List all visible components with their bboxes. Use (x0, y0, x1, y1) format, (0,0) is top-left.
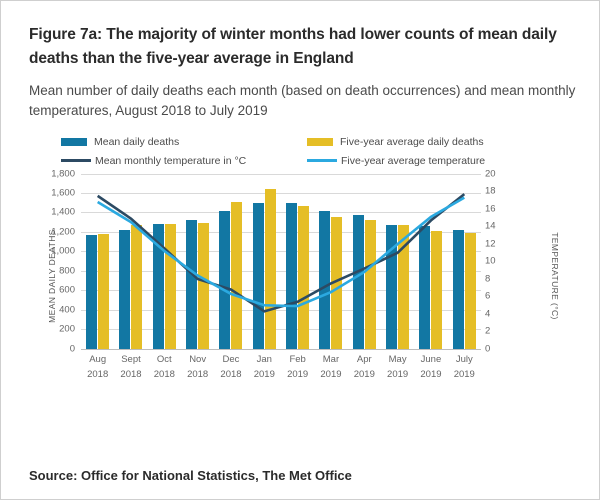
bar-group[interactable] (281, 174, 314, 349)
y-axis-left-tick-label: 1,000 (51, 246, 75, 257)
legend-item-mean-monthly-temperature[interactable]: Mean monthly temperature in °C (61, 155, 307, 167)
y-axis-left-tick-label: 600 (59, 285, 75, 296)
legend-item-five-year-average-temperature[interactable]: Five-year average temperature (307, 155, 553, 167)
x-axis-year: 2019 (281, 367, 314, 383)
source-note: Source: Office for National Statistics, … (29, 468, 352, 483)
chart-legend: Mean daily deaths Five-year average dail… (61, 136, 553, 167)
bar-mean-daily-deaths[interactable] (86, 235, 97, 348)
y-axis-right-tick-label: 8 (485, 273, 490, 284)
x-axis-year: 2019 (248, 367, 281, 383)
y-axis-right-tick-label: 6 (485, 291, 490, 302)
bar-group[interactable] (248, 174, 281, 349)
x-axis-tick-label: May2019 (381, 352, 414, 383)
legend-label: Mean monthly temperature in °C (95, 155, 246, 167)
bar-group[interactable] (414, 174, 447, 349)
legend-label: Five-year average temperature (341, 155, 485, 167)
x-axis-tick-label: Apr2019 (348, 352, 381, 383)
y-axis-right-ticks: 02468101214161820 (485, 174, 525, 349)
x-axis-month: Dec (214, 352, 247, 368)
bar-five-year-average[interactable] (265, 189, 276, 348)
x-axis-year: 2018 (148, 367, 181, 383)
bar-group[interactable] (314, 174, 347, 349)
x-axis-year: 2018 (81, 367, 114, 383)
x-axis-month: Sept (114, 352, 147, 368)
y-axis-right-tick-label: 2 (485, 326, 490, 337)
bar-mean-daily-deaths[interactable] (286, 203, 297, 349)
y-axis-left-tick-label: 1,800 (51, 168, 75, 179)
legend-swatch-line-icon (61, 159, 91, 162)
bar-mean-daily-deaths[interactable] (453, 230, 464, 348)
y-axis-left-tick-label: 400 (59, 304, 75, 315)
x-axis-year: 2019 (381, 367, 414, 383)
x-axis-year: 2018 (214, 367, 247, 383)
plot-area: MEAN DAILY DEATHS TEMPERATURE (°C) 02004… (29, 174, 579, 379)
y-axis-left-tick-label: 1,600 (51, 187, 75, 198)
y-axis-right-tick-label: 0 (485, 343, 490, 354)
bar-five-year-average[interactable] (331, 217, 342, 348)
bar-five-year-average[interactable] (465, 233, 476, 349)
x-axis-year: 2019 (314, 367, 347, 383)
bar-group[interactable] (381, 174, 414, 349)
x-axis-month: May (381, 352, 414, 368)
y-axis-right-tick-label: 10 (485, 256, 496, 267)
bar-group[interactable] (181, 174, 214, 349)
y-axis-right-tick-label: 12 (485, 238, 496, 249)
x-axis-month: Nov (181, 352, 214, 368)
bar-five-year-average[interactable] (231, 202, 242, 348)
x-axis-tick-label: Mar2019 (314, 352, 347, 383)
y-axis-left-ticks: 02004006008001,0001,2001,4001,6001,800 (35, 174, 75, 349)
legend-item-five-year-average-daily-deaths[interactable]: Five-year average daily deaths (307, 136, 553, 148)
bar-mean-daily-deaths[interactable] (186, 220, 197, 348)
y-axis-left-tick-label: 200 (59, 324, 75, 335)
bar-group[interactable] (448, 174, 481, 349)
legend-row: Mean daily deaths Five-year average dail… (61, 136, 553, 148)
x-axis-month: Oct (148, 352, 181, 368)
y-axis-right-tick-label: 16 (485, 203, 496, 214)
bar-mean-daily-deaths[interactable] (386, 225, 397, 348)
y-axis-right-tick-label: 20 (485, 168, 496, 179)
bar-five-year-average[interactable] (298, 206, 309, 348)
y-axis-right-tick-label: 14 (485, 221, 496, 232)
legend-swatch-line-icon (307, 159, 337, 162)
bar-five-year-average[interactable] (131, 225, 142, 349)
x-axis-tick-label: June2019 (414, 352, 447, 383)
y-axis-left-tick-label: 1,200 (51, 226, 75, 237)
bar-five-year-average[interactable] (98, 234, 109, 349)
x-axis-month: Jan (248, 352, 281, 368)
x-axis-year: 2019 (414, 367, 447, 383)
legend-swatch-bar-icon (307, 138, 333, 146)
x-axis-tick-label: Jan2019 (248, 352, 281, 383)
x-axis-month: Mar (314, 352, 347, 368)
legend-swatch-bar-icon (61, 138, 87, 146)
figure-container: Figure 7a: The majority of winter months… (0, 0, 600, 500)
x-axis-month: July (448, 352, 481, 368)
gridline (81, 349, 481, 350)
bar-five-year-average[interactable] (365, 220, 376, 349)
bar-group[interactable] (114, 174, 147, 349)
x-axis-tick-label: Feb2019 (281, 352, 314, 383)
bar-five-year-average[interactable] (431, 231, 442, 349)
x-axis-year: 2019 (348, 367, 381, 383)
legend-label: Five-year average daily deaths (340, 136, 484, 148)
y-axis-left-tick-label: 800 (59, 265, 75, 276)
x-axis-tick-label: Nov2018 (181, 352, 214, 383)
bar-mean-daily-deaths[interactable] (419, 226, 430, 349)
legend-label: Mean daily deaths (94, 136, 179, 148)
x-axis-tick-label: July2019 (448, 352, 481, 383)
y-axis-right-title: TEMPERATURE (°C) (550, 232, 560, 320)
chart-bars (81, 174, 481, 349)
bar-group[interactable] (148, 174, 181, 349)
y-axis-left-tick-label: 0 (70, 343, 75, 354)
bar-group[interactable] (81, 174, 114, 349)
bar-mean-daily-deaths[interactable] (119, 230, 130, 348)
bar-five-year-average[interactable] (165, 224, 176, 348)
x-axis-year: 2019 (448, 367, 481, 383)
figure-subtitle: Mean number of daily deaths each month (… (29, 81, 577, 122)
y-axis-right-tick-label: 18 (485, 186, 496, 197)
x-axis-year: 2018 (181, 367, 214, 383)
x-axis-tick-label: Sept2018 (114, 352, 147, 383)
bar-five-year-average[interactable] (198, 223, 209, 348)
x-axis-labels: Aug2018Sept2018Oct2018Nov2018Dec2018Jan2… (81, 352, 481, 383)
x-axis-month: Apr (348, 352, 381, 368)
x-axis-year: 2018 (114, 367, 147, 383)
bar-mean-daily-deaths[interactable] (219, 211, 230, 348)
x-axis-month: Feb (281, 352, 314, 368)
bar-group[interactable] (348, 174, 381, 349)
x-axis-month: June (414, 352, 447, 368)
legend-item-mean-daily-deaths[interactable]: Mean daily deaths (61, 136, 307, 148)
bar-five-year-average[interactable] (398, 225, 409, 349)
bar-mean-daily-deaths[interactable] (153, 224, 164, 348)
bar-group[interactable] (214, 174, 247, 349)
x-axis-tick-label: Oct2018 (148, 352, 181, 383)
figure-title: Figure 7a: The majority of winter months… (29, 23, 577, 71)
x-axis-month: Aug (81, 352, 114, 368)
y-axis-left-tick-label: 1,400 (51, 207, 75, 218)
x-axis-tick-label: Dec2018 (214, 352, 247, 383)
legend-row: Mean monthly temperature in °C Five-year… (61, 155, 553, 167)
bar-mean-daily-deaths[interactable] (353, 215, 364, 348)
x-axis-tick-label: Aug2018 (81, 352, 114, 383)
bar-mean-daily-deaths[interactable] (253, 203, 264, 349)
bar-mean-daily-deaths[interactable] (319, 211, 330, 348)
y-axis-right-tick-label: 4 (485, 308, 490, 319)
